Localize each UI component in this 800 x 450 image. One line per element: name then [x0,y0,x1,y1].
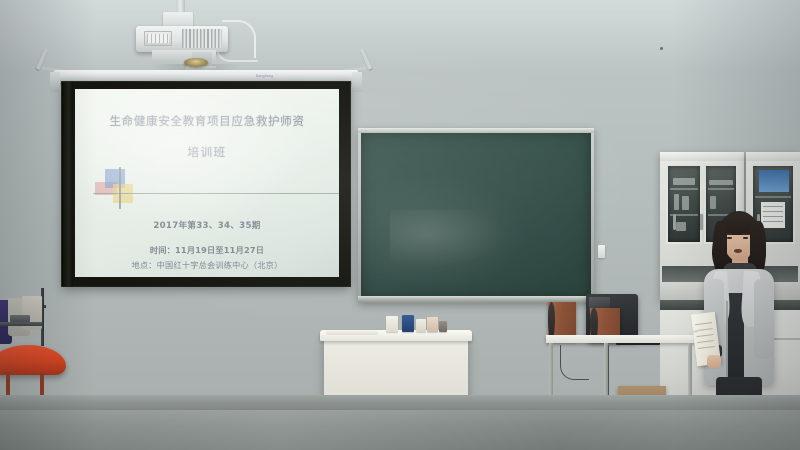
classroom-photo: Bangbang 生命健康安全教育项目应急救护师资 培训班 2017年第33、3… [0,0,800,450]
lighting-vignette [0,0,800,450]
